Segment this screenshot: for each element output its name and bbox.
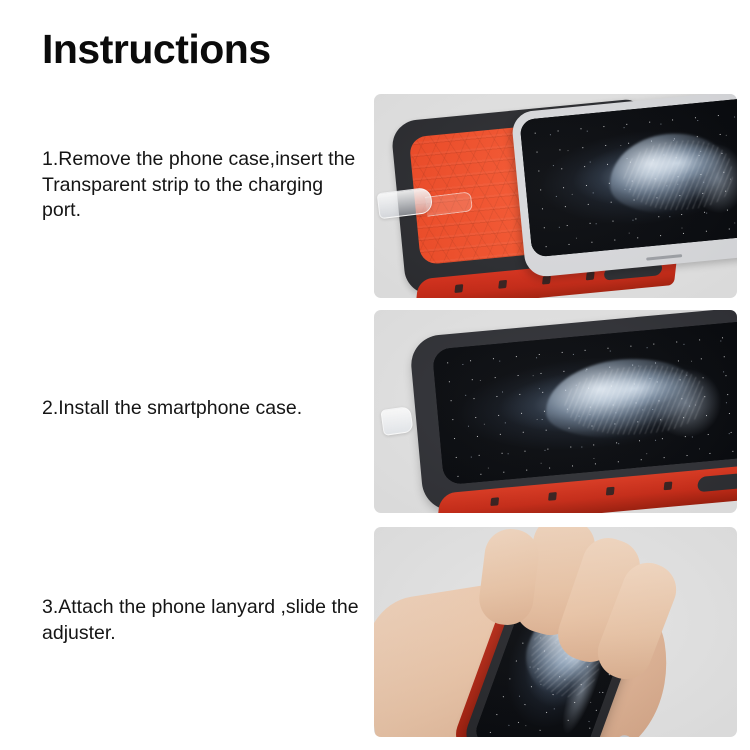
instruction-step-1: 1.Remove the phone case,insert the Trans… <box>0 94 750 298</box>
case-vent-hole <box>586 271 595 280</box>
step-1-text: 1.Remove the phone case,insert the Trans… <box>42 147 362 224</box>
step-2-image-panel <box>374 310 737 513</box>
step-3-text: 3.Attach the phone lanyard ,slide the ad… <box>42 595 362 646</box>
assembled-case-photo <box>374 310 737 513</box>
case-vent-hole <box>548 492 557 501</box>
case-vent-hole <box>490 497 499 506</box>
speaker-slot <box>646 254 682 260</box>
case-vent-hole <box>542 276 551 285</box>
exploded-case-photo <box>374 94 737 298</box>
case-side-button <box>697 471 737 493</box>
smartphone-screen <box>432 321 737 485</box>
assembled-case-body <box>409 310 737 513</box>
step-3-image-panel <box>374 527 737 737</box>
step-2-text: 2.Install the smartphone case. <box>42 396 362 422</box>
case-vent-hole <box>664 481 673 490</box>
smartphone-screen <box>519 97 737 258</box>
case-vent-hole <box>498 280 507 289</box>
phone-lanyard <box>600 735 670 737</box>
instruction-step-2: 2.Install the smartphone case. <box>0 310 750 513</box>
smartphone-body <box>511 94 737 278</box>
transparent-strip <box>380 406 413 436</box>
step-1-image-panel <box>374 94 737 298</box>
case-vent-hole <box>454 284 463 293</box>
instruction-step-3: 3.Attach the phone lanyard ,slide the ad… <box>0 527 750 737</box>
page-title: Instructions <box>42 29 271 70</box>
hand-holding-phone-photo <box>374 527 737 737</box>
case-vent-hole <box>606 487 615 496</box>
